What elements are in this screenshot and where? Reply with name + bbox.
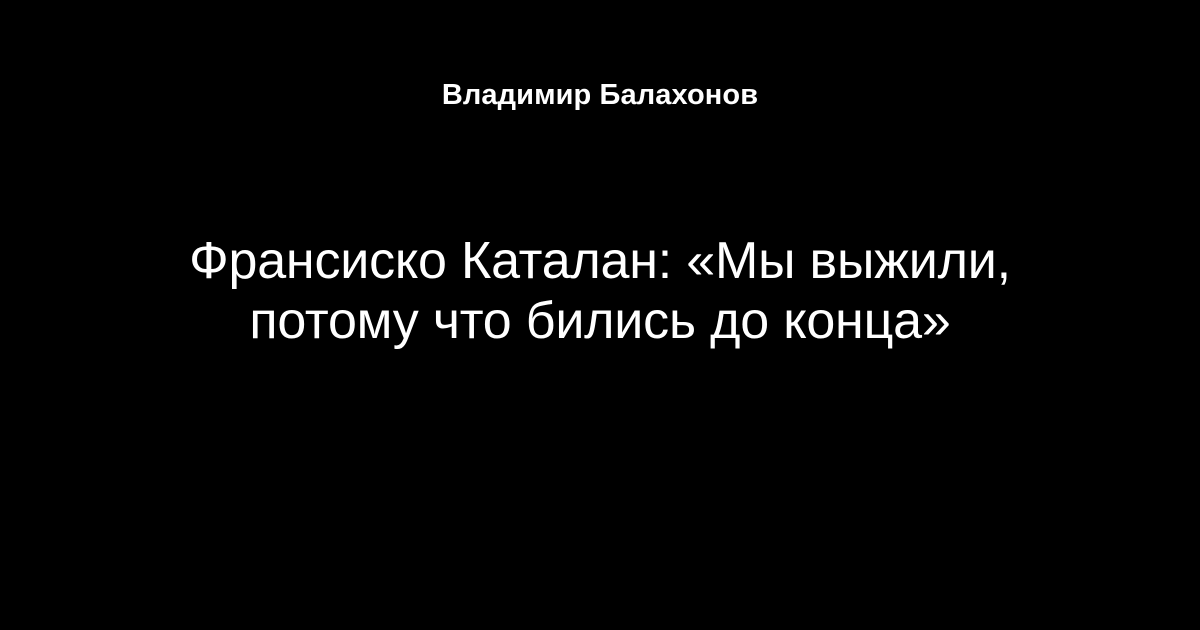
- author-byline: Владимир Балахонов: [0, 78, 1200, 117]
- headline-block: Франсиско Каталан: «Мы выжили, потому чт…: [0, 231, 1200, 351]
- share-card: Владимир Балахонов Франсиско Каталан: «М…: [0, 0, 1200, 630]
- page-title: Франсиско Каталан: «Мы выжили, потому чт…: [100, 231, 1100, 351]
- author-name: Владимир Балахонов: [442, 78, 758, 112]
